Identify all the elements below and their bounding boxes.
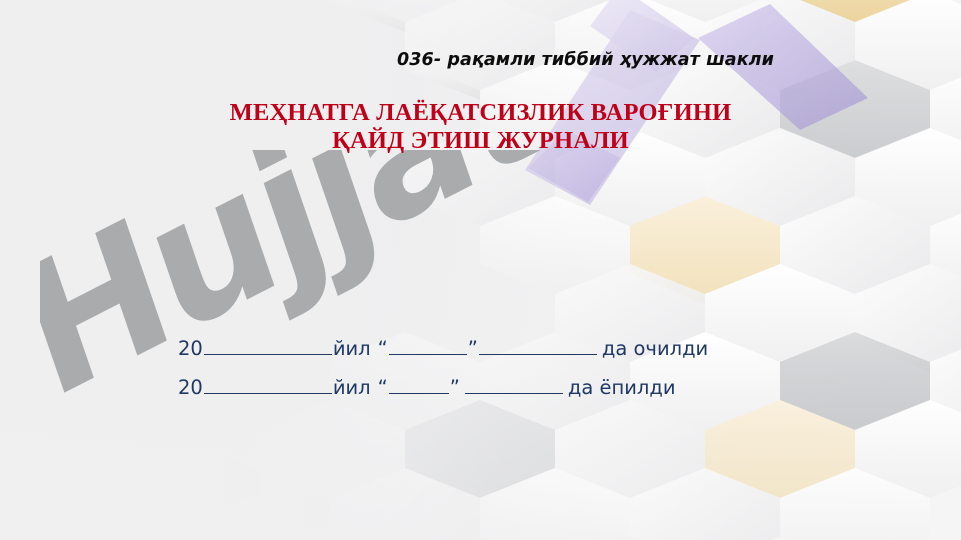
opened-year-blank[interactable] [204,337,332,355]
opened-month-blank[interactable] [479,337,597,355]
closed-quote-open: “ [378,368,388,407]
page-title-line-2: ҚАЙД ЭТИШ ЖУРНАЛИ [0,127,961,155]
page-title: МЕҲНАТГА ЛАЁҚАТСИЗЛИК ВАРОҒИНИ ҚАЙД ЭТИШ… [0,99,961,155]
opened-day-blank[interactable] [389,337,467,355]
opened-year-prefix: 20 [178,329,203,368]
slide-canvas: Hujjat 036- рақамли тиббий ҳужжат шакли … [0,0,961,540]
closed-date-line: 20йил“”да ёпилди [178,368,708,407]
hexagon-tile-pattern [0,0,961,540]
closed-year-word: йил [333,368,371,407]
closed-suffix: да ёпилди [568,368,676,407]
closed-quote-close: ” [450,368,460,407]
closed-year-blank[interactable] [204,376,332,394]
opened-suffix: да очилди [602,329,708,368]
closed-year-prefix: 20 [178,368,203,407]
closed-month-blank[interactable] [465,376,563,394]
form-code-note: 036- рақамли тиббий ҳужжат шакли [397,50,774,70]
journal-date-fields: 20йил“”да очилди 20йил“”да ёпилди [178,329,708,407]
closed-day-blank[interactable] [389,376,449,394]
opened-quote-open: “ [378,329,388,368]
opened-year-word: йил [333,329,371,368]
opened-date-line: 20йил“”да очилди [178,329,708,368]
page-title-line-1: МЕҲНАТГА ЛАЁҚАТСИЗЛИК ВАРОҒИНИ [230,99,732,126]
opened-quote-close: ” [468,329,478,368]
